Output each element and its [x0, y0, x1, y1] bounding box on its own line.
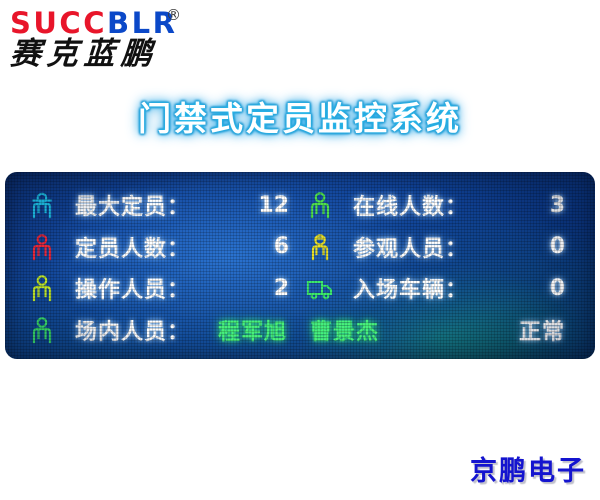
person-icon — [27, 273, 57, 303]
visitor-person-icon — [305, 232, 335, 262]
person-icon — [305, 190, 335, 220]
status-badge: 正常 — [519, 314, 565, 346]
led-cell-max-capacity: 最大定员： 12 — [27, 186, 305, 224]
brand-logo: SUCCBLR ® 赛克蓝鹏 — [8, 4, 238, 76]
led-cell-operator-count: 操作人员： 2 — [27, 269, 305, 307]
led-cell-personnel-onsite: 场内人员： 程军旭 曹景杰 正常 — [27, 311, 581, 349]
led-value: 2 — [274, 276, 289, 301]
led-content-grid: 最大定员： 12 在线人数： 3 — [5, 172, 595, 359]
led-label: 操作人员： — [75, 272, 190, 304]
registered-trademark-icon: ® — [166, 6, 181, 24]
led-display-panel: 最大定员： 12 在线人数： 3 — [5, 172, 595, 359]
led-label: 场内人员： — [75, 314, 190, 346]
led-label: 入场车辆： — [353, 272, 468, 304]
footer-watermark: 京鹏电子 — [470, 449, 586, 488]
led-value: 12 — [258, 193, 289, 218]
led-cell-quota-count: 定员人数： 6 — [27, 228, 305, 266]
personnel-name-list: 程军旭 曹景杰 — [218, 314, 379, 346]
table-row: 操作人员： 2 入场车辆： 0 — [27, 269, 581, 307]
led-label: 定员人数： — [75, 231, 190, 263]
led-value: 6 — [274, 234, 289, 259]
truck-icon — [305, 273, 335, 303]
person-icon — [27, 232, 57, 262]
led-label: 在线人数： — [353, 189, 468, 221]
led-cell-vehicle-count: 入场车辆： 0 — [305, 269, 581, 307]
table-row: 最大定员： 12 在线人数： 3 — [27, 186, 581, 224]
led-label: 参观人员： — [353, 231, 468, 263]
brand-chinese-name: 赛克蓝鹏 — [9, 35, 160, 73]
person-with-hat-icon — [27, 190, 57, 220]
led-value: 0 — [550, 276, 565, 301]
table-row: 场内人员： 程军旭 曹景杰 正常 — [27, 311, 581, 349]
led-value: 3 — [550, 193, 565, 218]
led-cell-online-count: 在线人数： 3 — [305, 186, 581, 224]
led-cell-visitor-count: 参观人员： 0 — [305, 228, 581, 266]
table-row: 定员人数： 6 参观人员： 0 — [27, 228, 581, 266]
person-icon — [27, 315, 57, 345]
led-value: 0 — [550, 234, 565, 259]
led-label: 最大定员： — [75, 189, 190, 221]
page-title: 门禁式定员监控系统 — [0, 92, 600, 140]
